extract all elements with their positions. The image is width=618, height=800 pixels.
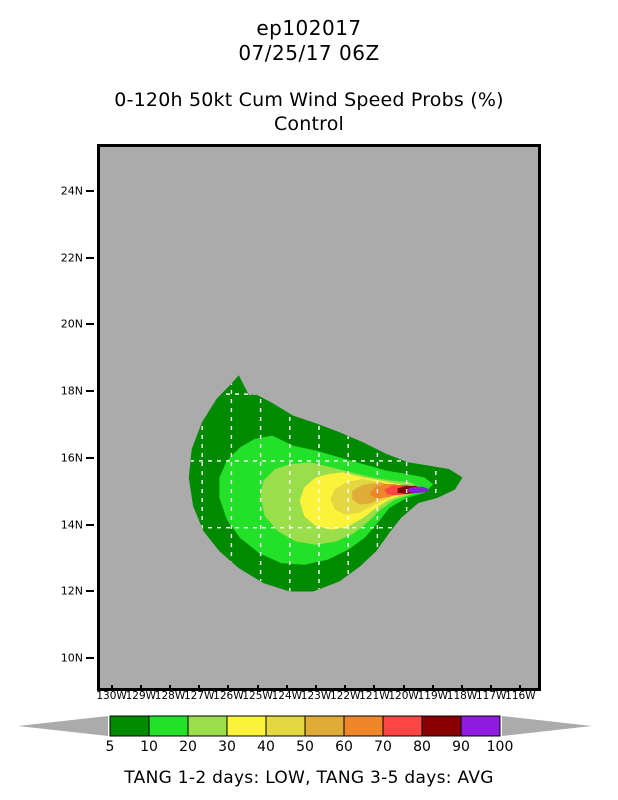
y-axis-tick-label: 10N <box>61 652 83 665</box>
colorbar-tick-label: 60 <box>335 739 353 755</box>
x-axis-tick-label: 121W <box>359 690 389 702</box>
y-axis-tick-mark <box>86 190 94 192</box>
x-axis-tick-mark <box>403 685 405 690</box>
y-axis-tick-label: 24N <box>61 184 83 197</box>
x-axis-tick-mark <box>461 685 463 690</box>
y-axis-tick-label: 22N <box>61 251 83 264</box>
y-axis-tick-label: 14N <box>61 518 83 531</box>
colorbar-swatch-90 <box>461 716 500 736</box>
colorbar-tick-label: 50 <box>296 739 314 755</box>
x-axis-tick-label: 130W <box>96 690 126 702</box>
colorbar-swatch-60 <box>344 716 383 736</box>
colorbar-swatch-5 <box>110 716 149 736</box>
colorbar-tick-label: 80 <box>413 739 431 755</box>
colorbar-swatches <box>0 713 618 739</box>
y-axis-tick-mark <box>86 257 94 259</box>
colorbar-tick-label: 5 <box>106 739 115 755</box>
chart-subtitle-block: 0-120h 50kt Cum Wind Speed Probs (%) Con… <box>0 88 618 136</box>
x-axis-tick-mark <box>257 685 259 690</box>
y-axis-tick-mark <box>86 657 94 659</box>
x-axis: 130W129W128W127W126W125W124W123W122W121W… <box>97 690 535 712</box>
y-axis-tick-label: 18N <box>61 385 83 398</box>
y-axis-tick-mark <box>86 524 94 526</box>
y-axis-tick-label: 16N <box>61 451 83 464</box>
y-axis-tick-label: 20N <box>61 318 83 331</box>
colorbar-tick-label: 20 <box>179 739 197 755</box>
colorbar-swatch-30 <box>227 716 266 736</box>
x-axis-tick-label: 118W <box>447 690 477 702</box>
x-axis-tick-label: 117W <box>476 690 506 702</box>
x-axis-tick-mark <box>169 685 171 690</box>
colorbar-extend-high-arrow <box>502 716 592 736</box>
colorbar-tick-label: 40 <box>257 739 275 755</box>
y-axis: 10N12N14N16N18N20N22N24N <box>0 144 97 685</box>
colorbar-swatch-70 <box>383 716 422 736</box>
member-subtitle: Control <box>0 112 618 136</box>
x-axis-tick-mark <box>286 685 288 690</box>
x-axis-tick-label: 116W <box>505 690 535 702</box>
x-axis-tick-label: 125W <box>242 690 272 702</box>
colorbar-swatch-20 <box>188 716 227 736</box>
x-axis-tick-mark <box>373 685 375 690</box>
colorbar-tick-label: 30 <box>218 739 236 755</box>
colorbar-swatch-10 <box>149 716 188 736</box>
y-axis-tick-mark <box>86 457 94 459</box>
chart-title-block: ep102017 07/25/17 06Z <box>0 16 618 66</box>
x-axis-tick-label: 122W <box>330 690 360 702</box>
colorbar-swatch-50 <box>305 716 344 736</box>
map-plot-frame <box>97 144 541 691</box>
colorbar-tick-label: 90 <box>452 739 470 755</box>
x-axis-tick-label: 126W <box>213 690 243 702</box>
x-axis-tick-mark <box>140 685 142 690</box>
map-plot-area <box>100 147 538 688</box>
x-axis-tick-mark <box>111 685 113 690</box>
tang-footer-note: TANG 1-2 days: LOW, TANG 3-5 days: AVG <box>0 768 618 788</box>
x-axis-tick-mark <box>432 685 434 690</box>
valid-datetime-title: 07/25/17 06Z <box>0 41 618 66</box>
colorbar-tick-label: 10 <box>140 739 158 755</box>
contour-fill-group <box>189 376 462 591</box>
x-axis-tick-label: 120W <box>388 690 418 702</box>
colorbar-tick-label: 100 <box>487 739 514 755</box>
x-axis-tick-label: 124W <box>272 690 302 702</box>
product-subtitle: 0-120h 50kt Cum Wind Speed Probs (%) <box>0 88 618 112</box>
x-axis-tick-mark <box>519 685 521 690</box>
x-axis-tick-mark <box>490 685 492 690</box>
colorbar: 5102030405060708090100 <box>0 713 618 763</box>
x-axis-tick-label: 127W <box>184 690 214 702</box>
y-axis-tick-mark <box>86 323 94 325</box>
x-axis-tick-label: 119W <box>418 690 448 702</box>
colorbar-tick-label: 70 <box>374 739 392 755</box>
x-axis-tick-label: 128W <box>155 690 185 702</box>
y-axis-tick-mark <box>86 590 94 592</box>
map-gridlines <box>100 147 538 688</box>
colorbar-extend-low-arrow <box>18 716 108 736</box>
wind-probability-contours <box>100 147 538 688</box>
storm-id-title: ep102017 <box>0 16 618 41</box>
x-axis-tick-label: 129W <box>126 690 156 702</box>
y-axis-tick-label: 12N <box>61 585 83 598</box>
x-axis-tick-mark <box>315 685 317 690</box>
colorbar-swatch-80 <box>422 716 461 736</box>
colorbar-swatch-40 <box>266 716 305 736</box>
x-axis-tick-mark <box>227 685 229 690</box>
y-axis-tick-mark <box>86 390 94 392</box>
x-axis-tick-label: 123W <box>301 690 331 702</box>
x-axis-tick-mark <box>344 685 346 690</box>
x-axis-tick-mark <box>198 685 200 690</box>
